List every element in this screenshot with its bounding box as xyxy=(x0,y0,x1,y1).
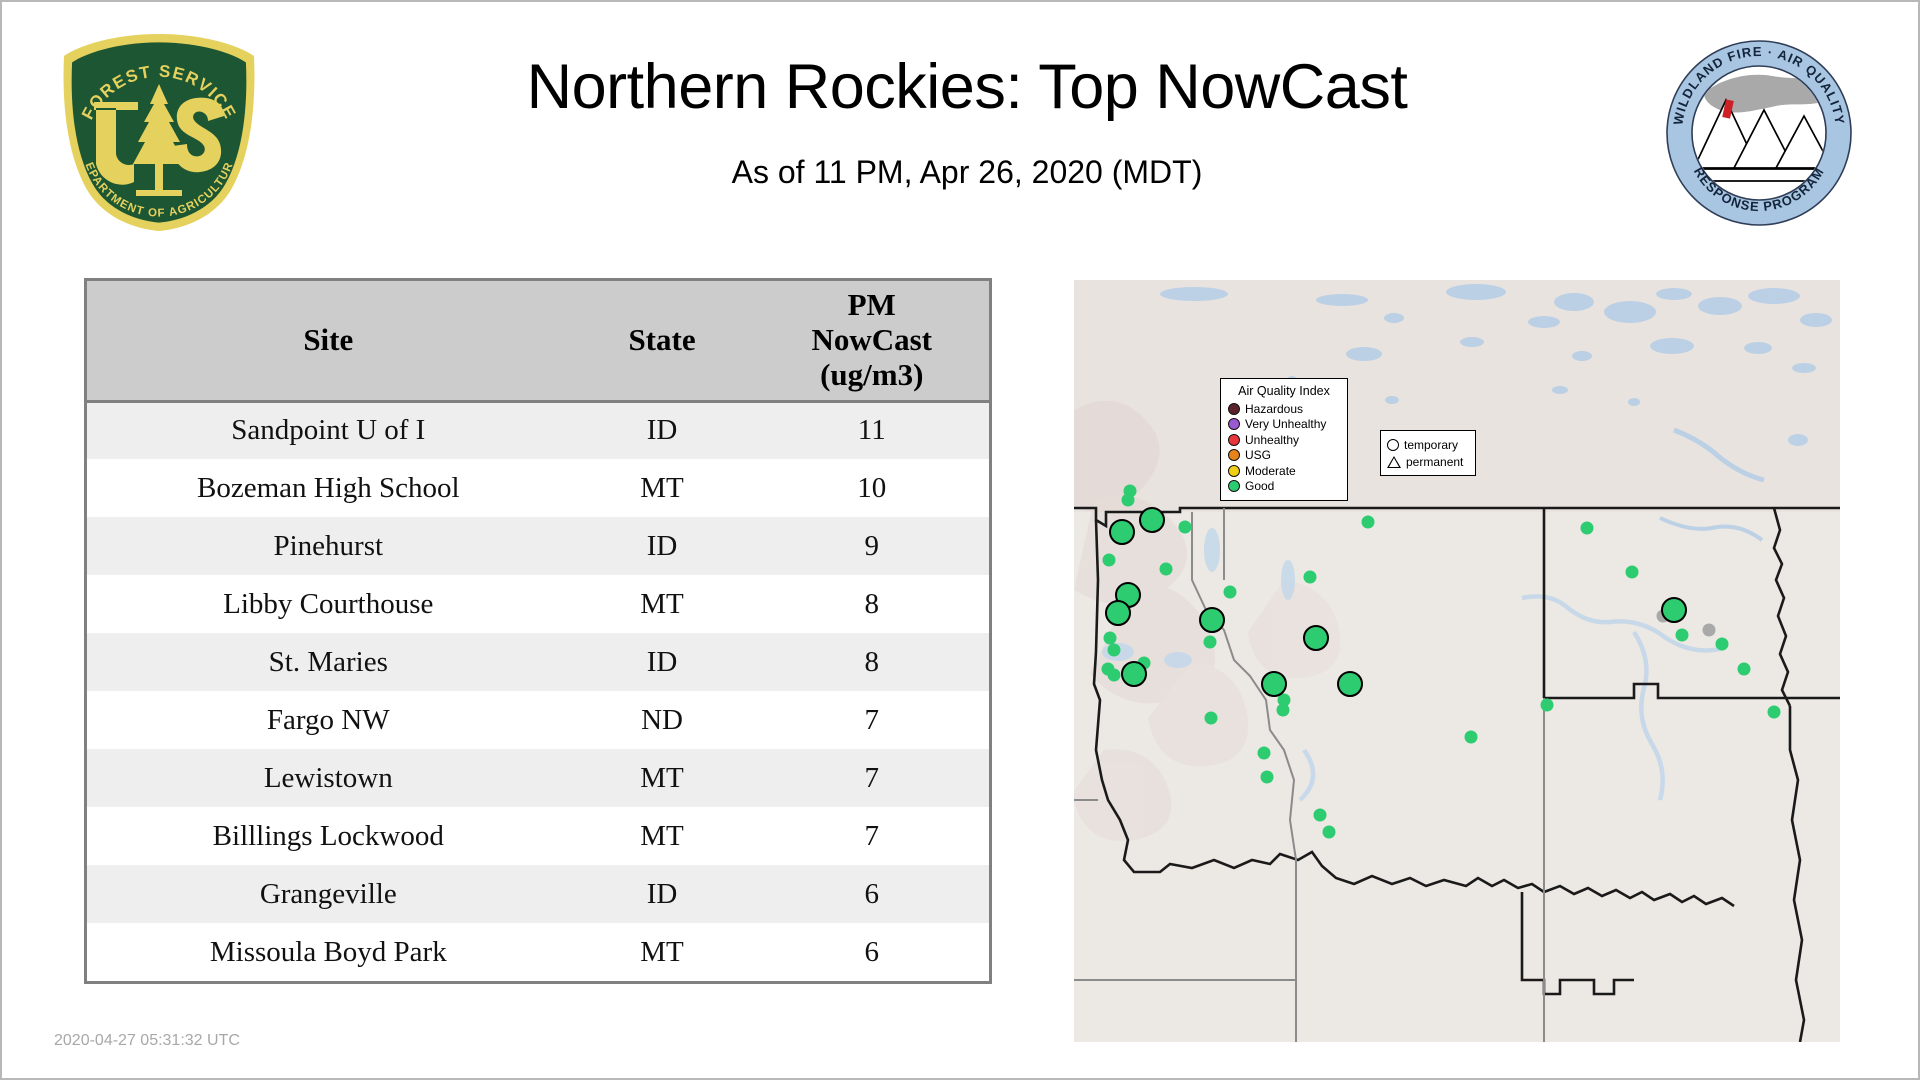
cell-pm: 6 xyxy=(754,865,989,923)
monitor-type-legend: temporary permanent xyxy=(1380,430,1476,476)
swatch-good xyxy=(1228,480,1240,492)
cell-state: ID xyxy=(570,633,755,691)
swatch-very-unhealthy xyxy=(1228,418,1240,430)
monitor-marker[interactable] xyxy=(1179,521,1192,534)
monitor-marker[interactable] xyxy=(1768,706,1781,719)
header-line: PM xyxy=(848,287,896,322)
monitor-marker-top-site[interactable] xyxy=(1121,661,1147,687)
monitor-marker[interactable] xyxy=(1716,638,1729,651)
swatch-usg xyxy=(1228,449,1240,461)
table-row: St. Maries ID 8 xyxy=(87,633,989,691)
cell-site: Bozeman High School xyxy=(87,459,570,517)
monitor-marker[interactable] xyxy=(1314,809,1327,822)
air-quality-map[interactable]: Air Quality Index Hazardous Very Unhealt… xyxy=(1074,280,1840,1042)
swatch-hazardous xyxy=(1228,403,1240,415)
header-line: NowCast xyxy=(811,322,932,357)
triangle-icon xyxy=(1387,456,1401,468)
header-line: (ug/m3) xyxy=(820,357,923,392)
monitor-marker[interactable] xyxy=(1108,644,1121,657)
monitor-marker-top-site[interactable] xyxy=(1139,507,1165,533)
monitor-marker-top-site[interactable] xyxy=(1261,671,1287,697)
cell-pm: 7 xyxy=(754,807,989,865)
legend-item-usg: USG xyxy=(1228,448,1340,464)
table-row: Billlings Lockwood MT 7 xyxy=(87,807,989,865)
cell-site: Grangeville xyxy=(87,865,570,923)
cell-site: Lewistown xyxy=(87,749,570,807)
cell-state: MT xyxy=(570,459,755,517)
circle-icon xyxy=(1387,439,1399,451)
table-row: Bozeman High School MT 10 xyxy=(87,459,989,517)
monitor-marker[interactable] xyxy=(1224,586,1237,599)
monitor-marker[interactable] xyxy=(1103,554,1116,567)
table-row: Pinehurst ID 9 xyxy=(87,517,989,575)
cell-site: Sandpoint U of I xyxy=(87,401,570,459)
monitor-marker-top-site[interactable] xyxy=(1105,600,1131,626)
monitor-marker[interactable] xyxy=(1626,566,1639,579)
column-header-state: State xyxy=(570,281,755,401)
legend-label: permanent xyxy=(1406,456,1463,468)
monitor-marker[interactable] xyxy=(1205,712,1218,725)
nowcast-table-container: Site State PM NowCast (ug/m3) Sandpoint … xyxy=(84,278,992,984)
monitor-marker[interactable] xyxy=(1581,522,1594,535)
nowcast-table: Site State PM NowCast (ug/m3) Sandpoint … xyxy=(87,281,989,981)
monitor-marker-top-site[interactable] xyxy=(1199,607,1225,633)
cell-pm: 10 xyxy=(754,459,989,517)
legend-item-temporary: temporary xyxy=(1387,436,1469,453)
header-line: Site xyxy=(303,322,353,357)
legend-label: USG xyxy=(1245,449,1271,461)
monitor-marker[interactable] xyxy=(1703,624,1716,637)
legend-item-good: Good xyxy=(1228,479,1340,495)
monitor-marker[interactable] xyxy=(1124,485,1137,498)
usfs-shield-logo: FOREST SERVICE DEPARTMENT OF AGRICULTURE xyxy=(54,30,264,235)
header-line: State xyxy=(628,322,695,357)
monitor-marker[interactable] xyxy=(1738,663,1751,676)
aqi-legend: Air Quality Index Hazardous Very Unhealt… xyxy=(1220,378,1348,501)
cell-site: Billlings Lockwood xyxy=(87,807,570,865)
cell-pm: 7 xyxy=(754,691,989,749)
header: FOREST SERVICE DEPARTMENT OF AGRICULTURE… xyxy=(2,2,1920,272)
cell-state: ID xyxy=(570,517,755,575)
legend-item-moderate: Moderate xyxy=(1228,463,1340,479)
cell-site: Pinehurst xyxy=(87,517,570,575)
monitor-marker[interactable] xyxy=(1465,731,1478,744)
monitor-marker-top-site[interactable] xyxy=(1303,625,1329,651)
monitor-marker-top-site[interactable] xyxy=(1661,597,1687,623)
cell-pm: 8 xyxy=(754,575,989,633)
cell-site: St. Maries xyxy=(87,633,570,691)
table-header-row: Site State PM NowCast (ug/m3) xyxy=(87,281,989,401)
swatch-moderate xyxy=(1228,465,1240,477)
aqi-legend-title: Air Quality Index xyxy=(1228,384,1340,398)
monitor-marker[interactable] xyxy=(1258,747,1271,760)
legend-label: Unhealthy xyxy=(1245,434,1299,446)
cell-pm: 7 xyxy=(754,749,989,807)
monitor-marker[interactable] xyxy=(1676,629,1689,642)
legend-label: Moderate xyxy=(1245,465,1296,477)
legend-label: temporary xyxy=(1404,439,1458,451)
cell-pm: 6 xyxy=(754,923,989,981)
cell-site: Fargo NW xyxy=(87,691,570,749)
wfaqrp-logo: WILDLAND FIRE · AIR QUALITY RESPONSE PRO… xyxy=(1664,38,1854,228)
legend-label: Very Unhealthy xyxy=(1245,418,1326,430)
map-terrain xyxy=(1074,280,1840,1042)
cell-site: Missoula Boyd Park xyxy=(87,923,570,981)
cell-site: Libby Courthouse xyxy=(87,575,570,633)
monitor-marker-top-site[interactable] xyxy=(1337,671,1363,697)
legend-label: Good xyxy=(1245,480,1274,492)
page-subtitle: As of 11 PM, Apr 26, 2020 (MDT) xyxy=(302,154,1632,191)
table-row: Libby Courthouse MT 8 xyxy=(87,575,989,633)
cell-state: ND xyxy=(570,691,755,749)
monitor-marker[interactable] xyxy=(1362,516,1375,529)
report-page: FOREST SERVICE DEPARTMENT OF AGRICULTURE… xyxy=(0,0,1920,1080)
cell-state: MT xyxy=(570,807,755,865)
monitor-marker[interactable] xyxy=(1160,563,1173,576)
monitor-marker[interactable] xyxy=(1108,669,1121,682)
column-header-pm-nowcast: PM NowCast (ug/m3) xyxy=(754,281,989,401)
swatch-unhealthy xyxy=(1228,434,1240,446)
table-row: Sandpoint U of I ID 11 xyxy=(87,401,989,459)
table-row: Missoula Boyd Park MT 6 xyxy=(87,923,989,981)
legend-item-hazardous: Hazardous xyxy=(1228,401,1340,417)
cell-state: ID xyxy=(570,401,755,459)
cell-pm: 8 xyxy=(754,633,989,691)
cell-state: MT xyxy=(570,749,755,807)
monitor-marker[interactable] xyxy=(1261,771,1274,784)
legend-item-very-unhealthy: Very Unhealthy xyxy=(1228,417,1340,433)
table-row: Fargo NW ND 7 xyxy=(87,691,989,749)
generation-timestamp: 2020-04-27 05:31:32 UTC xyxy=(54,1032,240,1050)
cell-state: MT xyxy=(570,923,755,981)
cell-state: MT xyxy=(570,575,755,633)
table-row: Lewistown MT 7 xyxy=(87,749,989,807)
cell-pm: 9 xyxy=(754,517,989,575)
legend-item-permanent: permanent xyxy=(1387,453,1469,470)
cell-pm: 11 xyxy=(754,401,989,459)
page-title: Northern Rockies: Top NowCast xyxy=(302,54,1632,120)
column-header-site: Site xyxy=(87,281,570,401)
table-row: Grangeville ID 6 xyxy=(87,865,989,923)
monitor-marker[interactable] xyxy=(1304,571,1317,584)
title-block: Northern Rockies: Top NowCast As of 11 P… xyxy=(302,54,1632,191)
monitor-marker[interactable] xyxy=(1204,636,1217,649)
legend-item-unhealthy: Unhealthy xyxy=(1228,432,1340,448)
cell-state: ID xyxy=(570,865,755,923)
legend-label: Hazardous xyxy=(1245,403,1303,415)
monitor-marker[interactable] xyxy=(1541,699,1554,712)
monitor-marker[interactable] xyxy=(1323,826,1336,839)
monitor-marker-top-site[interactable] xyxy=(1109,519,1135,545)
